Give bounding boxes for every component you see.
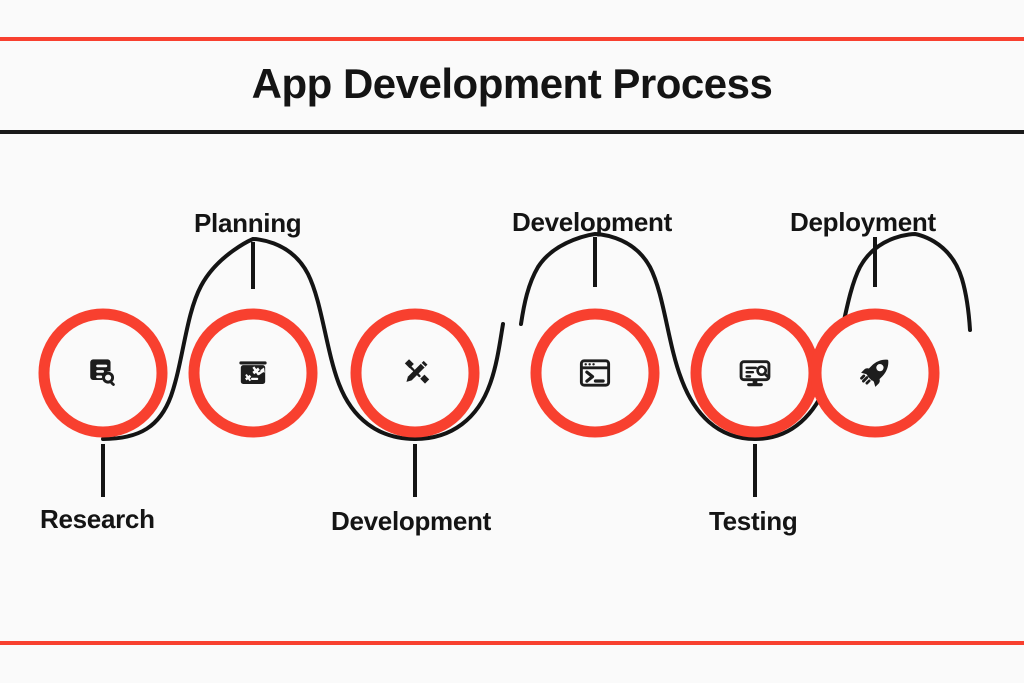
step-ring-development-code[interactable] bbox=[536, 314, 654, 432]
step-label-testing: Testing bbox=[709, 506, 797, 536]
process-step-deployment[interactable] bbox=[816, 314, 934, 432]
step-label-research: Research bbox=[40, 504, 155, 534]
process-step-development-code[interactable] bbox=[536, 314, 654, 432]
top-accent-rule bbox=[0, 37, 1024, 41]
process-step-research[interactable] bbox=[44, 314, 162, 432]
page-title: App Development Process bbox=[0, 60, 1024, 108]
infographic-canvas: App Development Process bbox=[0, 0, 1024, 683]
process-flow-diagram: Research Planning Development Developmen… bbox=[0, 134, 1024, 641]
step-ring-testing[interactable] bbox=[696, 314, 814, 432]
bottom-accent-rule bbox=[0, 641, 1024, 645]
step-label-planning: Planning bbox=[194, 208, 301, 238]
process-step-development-design[interactable] bbox=[356, 314, 474, 432]
step-label-deployment: Deployment bbox=[790, 207, 936, 237]
step-label-development-design: Development bbox=[331, 506, 492, 536]
process-step-testing[interactable] bbox=[696, 314, 814, 432]
step-label-development-code: Development bbox=[512, 207, 673, 237]
process-step-planning[interactable] bbox=[194, 314, 312, 432]
